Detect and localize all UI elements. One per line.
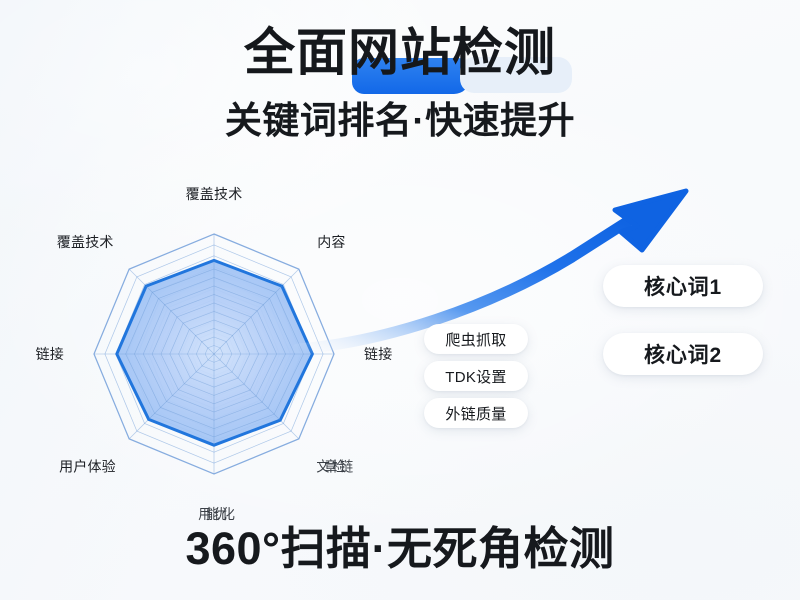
tag-label: TDK设置 — [445, 366, 507, 387]
radar-axis-label: 用户体验 — [59, 456, 116, 476]
keyword-pill-1[interactable]: 核心词1 — [603, 265, 763, 307]
tag-crawler[interactable]: 爬虫抓取 — [424, 324, 528, 354]
radar-axis-label: 链接 — [364, 344, 392, 364]
radar-chart: 覆盖技术内容链接文章检链用能优化用户体验链接覆盖技术 — [52, 196, 392, 516]
keyword-label: 核心词1 — [644, 271, 722, 301]
page-footer-title: 360°扫描·无死角检测 — [0, 512, 800, 577]
tag-tdk[interactable]: TDK设置 — [424, 361, 528, 391]
keyword-label: 核心词2 — [644, 339, 722, 369]
radar-series-area — [117, 260, 313, 445]
radar-axis-label: 覆盖技术 — [186, 184, 243, 204]
radar-data-polygon — [117, 260, 313, 445]
tag-label: 爬虫抓取 — [445, 329, 506, 350]
page-title: 全面网站检测 — [244, 26, 556, 80]
radar-axis-label: 内容 — [317, 232, 345, 252]
radar-axis-label: 文章检链 — [316, 456, 348, 476]
tag-label: 外链质量 — [445, 403, 506, 424]
tag-backlink[interactable]: 外链质量 — [424, 398, 528, 428]
headline-block: 全面网站检测 关键词排名·快速提升 — [0, 26, 800, 144]
keyword-pill-2[interactable]: 核心词2 — [603, 333, 763, 375]
poster-canvas: 全面网站检测 关键词排名·快速提升 覆盖技术内容链接文章检链用能优化用户体验链接… — [0, 0, 800, 600]
radar-axis-label: 覆盖技术 — [57, 232, 114, 252]
page-title-text: 全面网站检测 — [244, 24, 556, 81]
radar-axis-label: 链接 — [36, 344, 64, 364]
page-subtitle: 关键词排名·快速提升 — [0, 90, 800, 144]
